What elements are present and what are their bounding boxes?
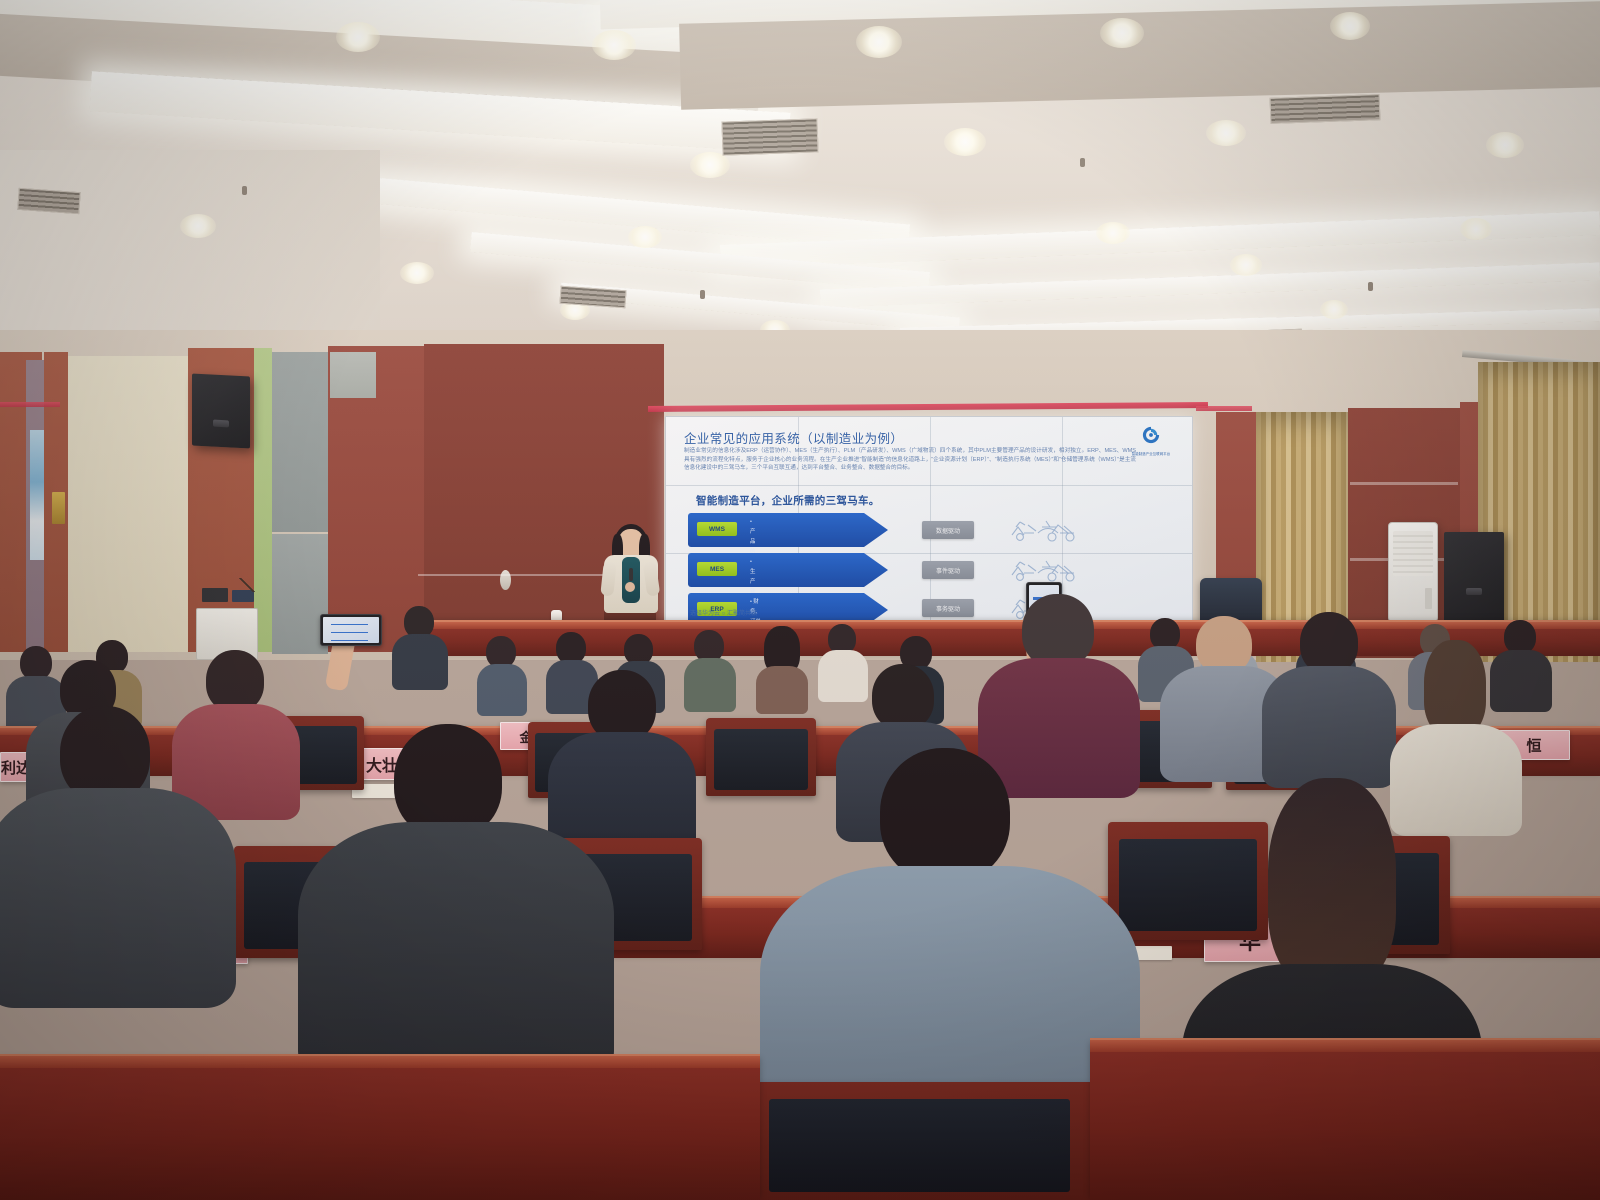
- ceiling-downlight-icon: [1330, 12, 1370, 40]
- chip-wms: 数据驱动: [922, 521, 974, 539]
- office-chair: [1200, 578, 1262, 622]
- ceiling-downlight-icon: [592, 30, 636, 60]
- chip-mes: 事件驱动: [922, 561, 974, 579]
- sprinkler-icon: [242, 186, 247, 195]
- floor-standing-air-conditioner: [1388, 522, 1438, 622]
- av-equipment: [202, 588, 228, 602]
- chip-erp: 事务驱动: [922, 599, 974, 617]
- sprinkler-icon: [1368, 282, 1373, 291]
- attendee-torso: [1390, 724, 1522, 836]
- wall-seam: [418, 574, 608, 576]
- attendee-head: [206, 650, 264, 712]
- ceiling-light-strip: [820, 262, 1600, 307]
- video-wall-seam: [666, 485, 1192, 486]
- ceiling-downlight-icon: [1320, 300, 1348, 319]
- wall-decor-strip: [30, 430, 44, 560]
- swirl-logo-icon: [1141, 425, 1161, 445]
- attendee-torso: [0, 788, 236, 1008]
- attendee-torso: [818, 650, 868, 702]
- attendee-head: [1022, 594, 1094, 668]
- attendee-head: [1504, 620, 1536, 654]
- hvac-vent-icon: [1270, 94, 1381, 124]
- attendee-head: [880, 748, 1010, 882]
- sprinkler-icon: [700, 290, 705, 299]
- horse-carriage-icon: [1008, 513, 1084, 543]
- wall-accent-line: [1196, 406, 1252, 411]
- presenter-hand: [625, 582, 635, 592]
- tag-wms: WMS: [697, 522, 737, 536]
- wall-panel-slate: [272, 352, 328, 532]
- auditorium-chair[interactable]: [706, 718, 816, 796]
- ceiling-downlight-icon: [1230, 254, 1262, 276]
- conference-hall-photo: 智能制造产业互联网平台 企业常见的应用系统（以制造业为例） 制造业常见的信息化涉…: [0, 0, 1600, 1200]
- wall-speaker: [192, 373, 250, 448]
- attendee-head: [872, 664, 934, 730]
- attendee-torso: [1490, 650, 1552, 712]
- ceiling-downlight-icon: [1460, 218, 1492, 240]
- slide-footer: 选择华为云 ○ 汇聚简共赢: [690, 608, 757, 617]
- attendee-torso: [684, 658, 736, 712]
- ceiling-downlight-icon: [690, 152, 730, 178]
- presenter: [600, 524, 662, 616]
- attendee-torso: [392, 634, 448, 690]
- ceiling-downlight-icon: [628, 226, 662, 248]
- ceiling-downlight-icon: [1206, 120, 1246, 146]
- ceiling-downlight-icon: [1096, 222, 1130, 244]
- floor-speaker: [1444, 532, 1504, 622]
- attendee-torso: [298, 822, 614, 1082]
- ceiling-downlight-icon: [400, 262, 434, 284]
- ceiling-downlight-icon: [1100, 18, 1144, 48]
- attendee-head: [394, 724, 502, 838]
- wall-accent-stripe: [254, 348, 272, 652]
- attendee-hair: [1268, 778, 1396, 988]
- slide-title: 企业常见的应用系统（以制造业为例）: [684, 428, 903, 447]
- placard-text: 恒: [1526, 735, 1541, 756]
- cable-bundle: [236, 578, 258, 592]
- attendee-torso: [978, 658, 1140, 798]
- horse-carriage-icon: [1008, 553, 1084, 583]
- auditorium-chair[interactable]: [1108, 822, 1268, 940]
- slide-subtitle: 智能制造平台，企业所需的三驾马车。: [696, 493, 880, 508]
- wall-plaque: [52, 492, 65, 524]
- phone-screen: [323, 617, 379, 643]
- attendee-head: [1300, 612, 1358, 674]
- hvac-vent-icon: [17, 188, 80, 214]
- ceiling-downlight-icon: [336, 22, 380, 52]
- attendee-torso: [756, 666, 808, 714]
- auditorium-chair-foreground[interactable]: [744, 1082, 1094, 1200]
- attendee-torso: [477, 664, 527, 716]
- attendee-torso: [1262, 666, 1396, 788]
- desk-surface: [1090, 1038, 1600, 1052]
- smartphone[interactable]: [320, 614, 382, 646]
- wall-panel-gray: [330, 352, 376, 398]
- wall-seam: [1350, 482, 1458, 485]
- sprinkler-icon: [1080, 158, 1085, 167]
- ceiling-downlight-icon: [180, 214, 216, 238]
- presentation-screen[interactable]: 智能制造产业互联网平台 企业常见的应用系统（以制造业为例） 制造业常见的信息化涉…: [665, 416, 1193, 621]
- tag-mes: MES: [697, 562, 737, 576]
- slide-body-text: 制造业常见的信息化涉及ERP（运营协作）、MES（生产执行）、PLM（产品研发）…: [684, 447, 1136, 473]
- ceiling-downlight-icon: [944, 128, 986, 156]
- ceiling-downlight-icon: [856, 26, 902, 58]
- desk-row-foreground: [1090, 1044, 1600, 1200]
- desk-surface: [0, 1054, 760, 1068]
- attendee-hair: [1424, 640, 1486, 736]
- slide-content: 智能制造产业互联网平台 企业常见的应用系统（以制造业为例） 制造业常见的信息化涉…: [666, 417, 1192, 620]
- wall-accent-line: [0, 402, 60, 407]
- desk-row-foreground: [0, 1060, 760, 1200]
- microphone-icon: [629, 568, 633, 581]
- attendee-head: [20, 646, 52, 680]
- wall-door-handle-icon: [500, 570, 511, 590]
- wall-panel-cream-left: [68, 356, 190, 652]
- ceiling-downlight-icon: [1486, 132, 1524, 158]
- hvac-vent-icon: [721, 118, 818, 155]
